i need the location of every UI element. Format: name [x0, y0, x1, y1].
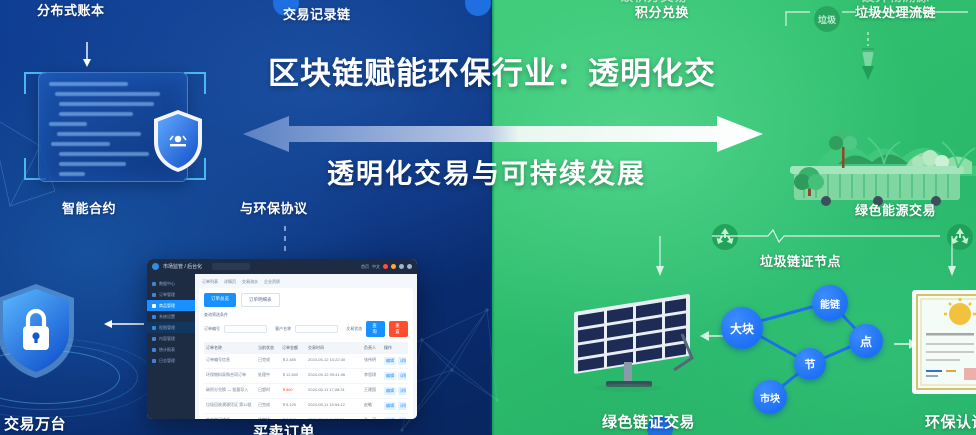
dashboard-sidebar: 数据中心 订单管理 商品管理 系统设置 权限管理 内容管理 统计报表 日志管理	[147, 274, 195, 419]
sidebar-item-label: 订单管理	[159, 292, 175, 298]
cell-actions[interactable]: 编辑详情	[384, 372, 406, 380]
dashboard-screenshot[interactable]: 市场监管 / 后台化 首页 中文 数据中心 订单管理 商品管理 系统设置 权限管…	[147, 259, 417, 419]
cell-actions[interactable]: 编辑详情	[384, 402, 406, 410]
cell-owner: 张伟明	[364, 357, 384, 365]
label-distributed-ledger: 分布式账本	[37, 4, 105, 19]
col-time: 交易时间	[308, 345, 364, 351]
sidebar-item-7[interactable]: 日志管理	[147, 355, 195, 366]
cell-actions[interactable]: 编辑详情	[384, 357, 406, 365]
cell-owner: 孙一诺	[364, 417, 384, 419]
connector-dashed-vertical	[283, 226, 287, 256]
cell-status: 已完成	[258, 402, 282, 410]
dashboard-content: 订单列表 详情页 交易流水 企业资质 订单总览 订单明细表 查询筛选条件 订单编…	[195, 274, 417, 419]
label-trade-orders: 买卖订单	[253, 424, 315, 435]
table-row[interactable]: 环保物料采购合同订单 处理中 ￥12,600 2024-05-12 09:41:…	[204, 369, 408, 384]
cell-name: 订单编号信息	[206, 357, 258, 365]
row-detail-link[interactable]: 详情	[398, 402, 406, 410]
row-detail-link[interactable]: 详情	[398, 357, 406, 365]
sidebar-item-4[interactable]: 权限管理	[147, 322, 195, 333]
filter-input-order-no[interactable]	[224, 325, 267, 333]
col-owner: 负责人	[364, 345, 384, 351]
message-badge-icon[interactable]	[391, 264, 396, 269]
cell-owner: 赵敏	[364, 402, 384, 410]
filter-label-customer: 客户名称	[275, 326, 291, 332]
settings-icon[interactable]	[407, 264, 412, 269]
node-dian[interactable]: 点	[849, 324, 883, 358]
sidebar-item-label: 权限管理	[159, 325, 175, 331]
cell-amount: ￥2,480	[282, 357, 308, 365]
reset-button[interactable]: 重置	[389, 321, 408, 337]
sidebar-item-label: 内容管理	[159, 336, 175, 342]
dashboard-window-title: 市场监管 / 后台化	[163, 263, 202, 270]
sidebar-item-2[interactable]: 商品管理	[147, 300, 195, 311]
label-green-chain-trade: 绿色链证交易	[602, 414, 695, 431]
sidebar-item-label: 日志管理	[159, 358, 175, 364]
cell-name: 碳积分兑换 — 批量导入	[206, 387, 258, 395]
cell-time: 2024-05-12 10:22:40	[308, 357, 364, 365]
node-nenglian[interactable]: 能链	[812, 285, 848, 321]
toggle-overview-button[interactable]: 订单总览	[204, 293, 236, 307]
label-eco-certification: 环保认证	[925, 414, 976, 431]
cell-amount: ￥12,600	[282, 372, 308, 380]
label-eco-protocol: 与环保协议	[240, 202, 308, 217]
node-shikuai[interactable]: 市块	[753, 380, 787, 414]
row-detail-link[interactable]: 详情	[398, 372, 406, 380]
header-action-lang[interactable]: 中文	[372, 264, 380, 270]
sidebar-item-label: 数据中心	[159, 281, 175, 287]
node-dakuai[interactable]: 大块	[721, 307, 763, 349]
row-detail-link[interactable]: 详情	[398, 387, 406, 395]
cell-owner: 王建国	[364, 387, 384, 395]
orders-table: 订单名称 当前状态 订单金额 交易时间 负责人 操作 订单编号信息 已完成 ￥2…	[204, 342, 408, 419]
row-edit-link[interactable]: 编辑	[384, 402, 396, 410]
filter-row: 订单编号 客户名称 交易状态 查询 重置	[204, 321, 408, 337]
tab-3[interactable]: 企业资质	[264, 279, 280, 285]
cell-time: 2024-05-12 09:41:06	[308, 372, 364, 380]
dashboard-panel: 订单总览 订单明细表 查询筛选条件 订单编号 客户名称 交易状态 查询 重置	[199, 288, 413, 419]
toggle-detail-button[interactable]: 订单明细表	[241, 293, 280, 307]
dashboard-header-actions: 首页 中文	[361, 264, 412, 270]
dashboard-tabs: 订单列表 详情页 交易流水 企业资质	[199, 278, 413, 288]
cell-name: 垃圾回收溯源凭证 第12批	[206, 402, 258, 410]
sidebar-item-label: 系统设置	[159, 314, 175, 320]
cell-actions[interactable]: 编辑详情	[384, 387, 406, 395]
col-amount: 订单金额	[282, 345, 308, 351]
cell-status: 处理中	[258, 372, 282, 380]
dashboard-search-input[interactable]	[212, 263, 250, 270]
cell-owner: 李思琪	[364, 372, 384, 380]
sidebar-item-label: 商品管理	[159, 303, 175, 309]
dashboard-titlebar: 市场监管 / 后台化 首页 中文	[147, 259, 417, 274]
cell-status: 已超时	[258, 387, 282, 395]
app-logo-icon	[152, 263, 159, 270]
cell-time: 2024-05-11 11:27:59	[308, 417, 364, 419]
node-label: 市块	[760, 390, 780, 405]
shield-icon	[150, 108, 206, 174]
sidebar-item-1[interactable]: 订单管理	[147, 289, 195, 300]
col-actions: 操作	[384, 345, 406, 351]
cell-time: 2024-05-11 15:54:12	[308, 402, 364, 410]
page-subtitle: 透明化交易与可持续发展	[327, 152, 976, 191]
toggle-button-group: 订单总览 订单明细表	[204, 293, 408, 307]
notification-badge-icon[interactable]	[383, 264, 388, 269]
label-trade-volume: 交易万台	[4, 416, 66, 433]
table-row[interactable]: 垃圾回收溯源凭证 第12批 已完成 ￥5,120 2024-05-11 15:5…	[204, 399, 408, 414]
col-status: 当前状态	[258, 345, 282, 351]
label-green-energy-trade: 绿色能源交易	[855, 204, 936, 219]
table-header-row: 订单名称 当前状态 订单金额 交易时间 负责人 操作	[204, 342, 408, 354]
sidebar-item-5[interactable]: 内容管理	[147, 333, 195, 344]
cell-name: 废弃物运输单	[206, 417, 258, 419]
row-detail-link[interactable]: 详情	[398, 417, 406, 419]
cell-amount: ￥3,340	[282, 417, 308, 419]
label-waste-chain-nodes: 垃圾链证节点	[760, 255, 841, 270]
row-edit-link[interactable]: 编辑	[384, 387, 396, 395]
sidebar-item-3[interactable]: 系统设置	[147, 311, 195, 322]
cell-amount: ￥5,120	[282, 402, 308, 410]
query-button[interactable]: 查询	[366, 321, 385, 337]
arrow-left-icon-lock	[104, 318, 144, 330]
sidebar-item-6[interactable]: 统计报表	[147, 344, 195, 355]
label-points-exchange: 积分兑换	[635, 6, 689, 21]
connector-mid-right	[640, 228, 970, 278]
solar-panel-icon	[562, 286, 702, 392]
tab-1[interactable]: 详情页	[224, 279, 236, 285]
cell-time: 2024-05-11 17:08:31	[308, 387, 364, 395]
table-row[interactable]: 碳积分兑换 — 批量导入 已超时 ￥860 2024-05-11 17:08:3…	[204, 384, 408, 399]
node-jie[interactable]: 节	[794, 348, 826, 380]
avatar[interactable]	[399, 264, 404, 269]
sidebar-item-label: 统计报表	[159, 347, 175, 353]
header-action-home[interactable]: 首页	[361, 264, 369, 270]
node-label: 节	[805, 356, 816, 372]
row-edit-link[interactable]: 编辑	[384, 357, 396, 365]
page-title: 区块链赋能环保行业：透明化交	[268, 48, 968, 93]
poster-canvas: 分布式账本 交易记录链 智能合约	[0, 0, 976, 435]
bidirectional-arrow	[243, 114, 763, 154]
filter-input-customer[interactable]	[295, 325, 338, 333]
filter-label-status: 交易状态	[346, 326, 362, 332]
cell-name: 环保物料采购合同订单	[206, 372, 258, 380]
filter-label-order-no: 订单编号	[204, 326, 220, 332]
connector-top-right	[782, 2, 972, 28]
cell-amount: ￥860	[282, 387, 308, 395]
label-smart-contract: 智能合约	[62, 202, 116, 217]
cell-status: 已完成	[258, 357, 282, 365]
col-name: 订单名称	[206, 345, 258, 351]
table-row[interactable]: 订单编号信息 已完成 ￥2,480 2024-05-12 10:22:40 张伟…	[204, 354, 408, 369]
table-row[interactable]: 废弃物运输单 待审核 ￥3,340 2024-05-11 11:27:59 孙一…	[204, 414, 408, 419]
node-label: 点	[860, 333, 872, 350]
filter-section-title: 查询筛选条件	[204, 312, 408, 318]
tab-0[interactable]: 订单列表	[202, 279, 218, 285]
cell-status: 待审核	[258, 417, 282, 419]
row-edit-link[interactable]: 编辑	[384, 372, 396, 380]
label-transaction-chain: 交易记录链	[283, 8, 351, 23]
node-label: 能链	[820, 296, 840, 311]
node-label: 大块	[730, 320, 754, 337]
certificate-icon	[908, 286, 976, 398]
sidebar-item-0[interactable]: 数据中心	[147, 278, 195, 289]
row-edit-link[interactable]: 编辑	[384, 417, 396, 419]
tab-2[interactable]: 交易流水	[242, 279, 258, 285]
lock-shield-icon	[0, 282, 78, 380]
cell-actions[interactable]: 编辑详情	[384, 417, 406, 419]
